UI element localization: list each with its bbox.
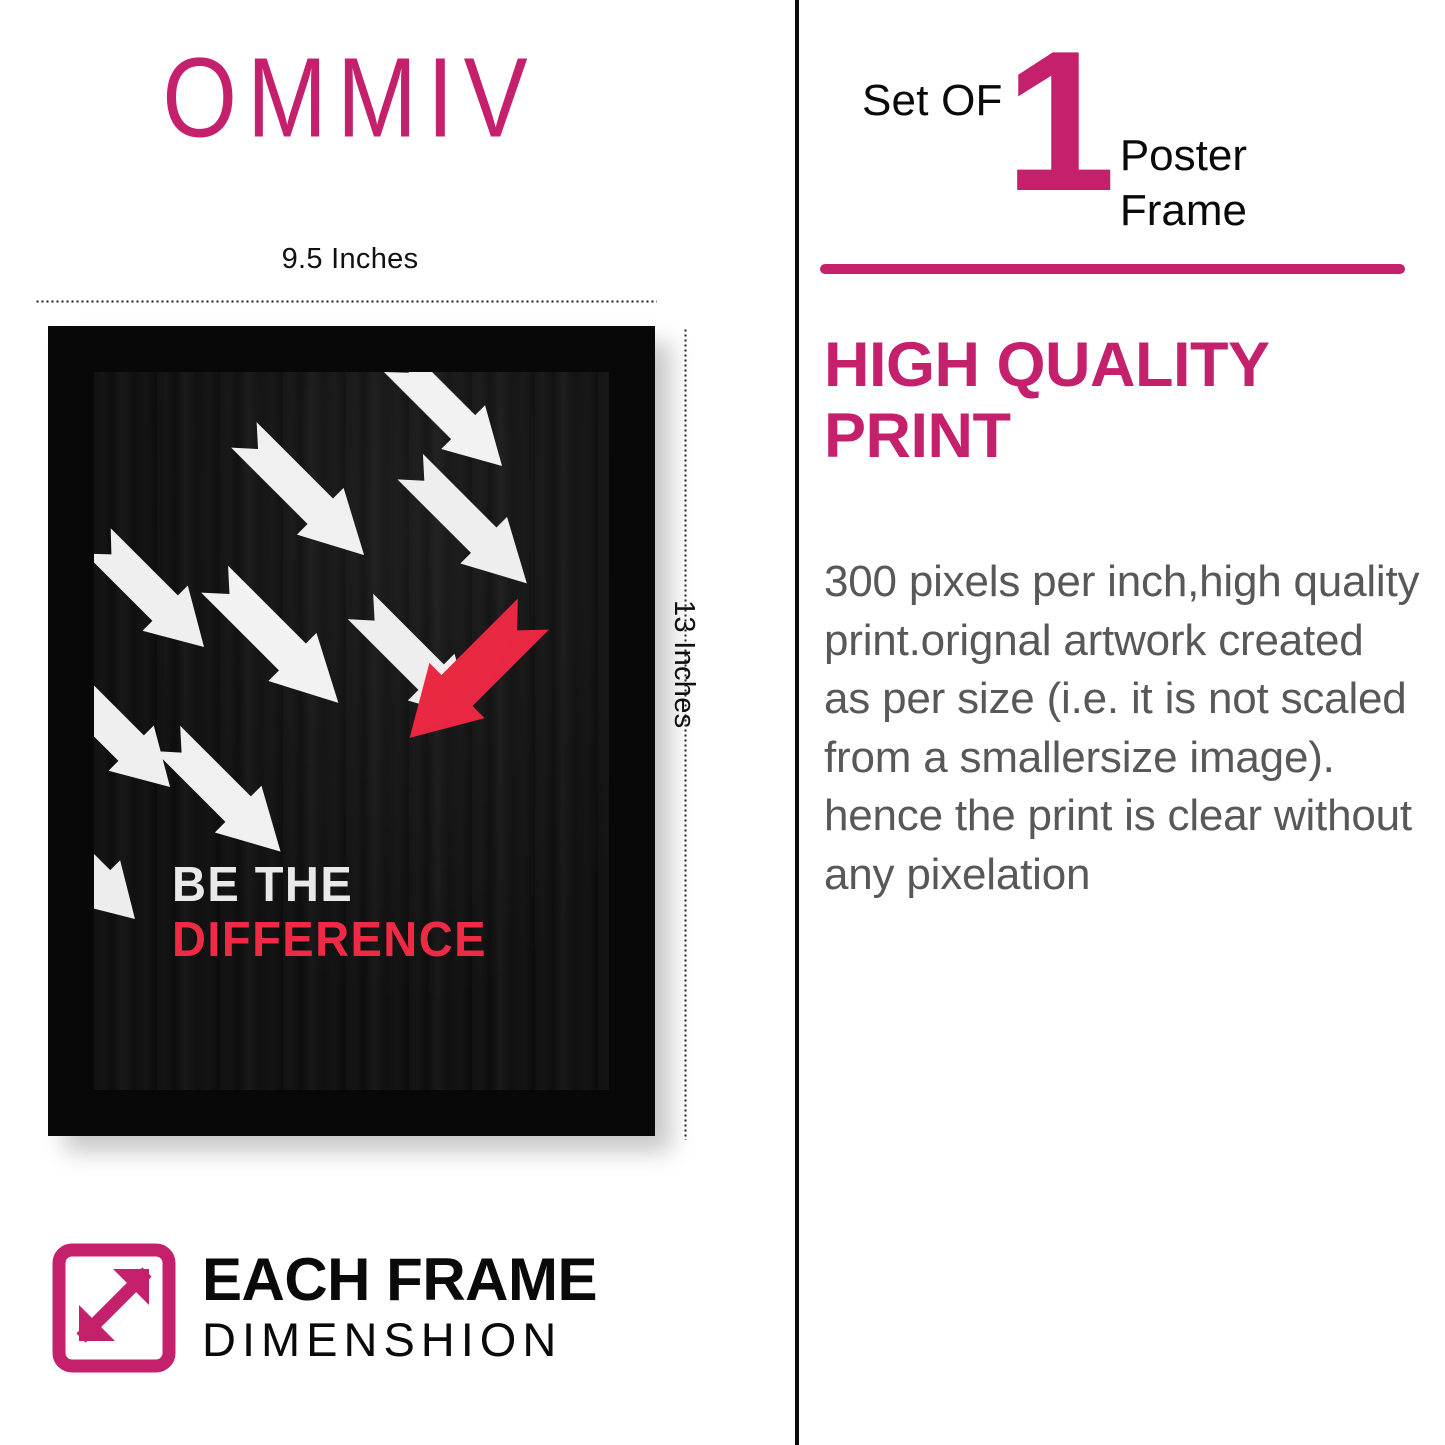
column-divider	[795, 0, 799, 1445]
set-unit-label: Poster Frame	[1120, 128, 1247, 238]
width-measure-dotted-line	[35, 300, 657, 303]
white-arrow-icon	[221, 412, 388, 579]
poster-artwork: BE THE DIFFERENCE	[94, 372, 609, 1090]
high-quality-print-heading: HIGH QUALITY PRINT	[824, 330, 1424, 471]
poster-width-label: 9.5 Inches	[0, 243, 700, 276]
white-arrow-icon	[94, 805, 157, 941]
set-quantity-block: Set OF 1 Poster Frame	[862, 50, 1247, 238]
framed-poster: BE THE DIFFERENCE	[48, 326, 655, 1136]
poster-slogan-line-1: BE THE	[172, 858, 487, 913]
poster-slogan: BE THE DIFFERENCE	[172, 858, 500, 968]
each-frame-dimension-block: EACH FRAME DIMENSHION	[52, 1243, 597, 1373]
each-frame-title: EACH FRAME	[202, 1249, 597, 1310]
pink-horizontal-rule	[820, 264, 1405, 274]
white-arrow-icon	[144, 715, 304, 875]
set-count-number: 1	[1005, 44, 1116, 200]
height-measure-dotted-line	[684, 328, 687, 1140]
set-unit-line-2: Frame	[1120, 183, 1247, 238]
set-of-label: Set OF	[862, 76, 1003, 126]
each-frame-subtitle: DIMENSHION	[202, 1314, 597, 1367]
set-unit-line-1: Poster	[1120, 128, 1247, 183]
brand-logo: OMMIV	[0, 42, 700, 155]
product-infographic: OMMIV 9.5 Inches 13 Inches	[0, 0, 1445, 1445]
poster-slogan-line-2: DIFFERENCE	[172, 913, 487, 968]
white-arrow-icon	[191, 555, 363, 727]
resize-diagonal-icon	[52, 1243, 176, 1373]
each-frame-dimension-texts: EACH FRAME DIMENSHION	[202, 1249, 597, 1367]
poster-height-label: 13 Inches	[667, 600, 700, 728]
high-quality-print-body: 300 pixels per inch,high quality print.o…	[824, 553, 1424, 904]
